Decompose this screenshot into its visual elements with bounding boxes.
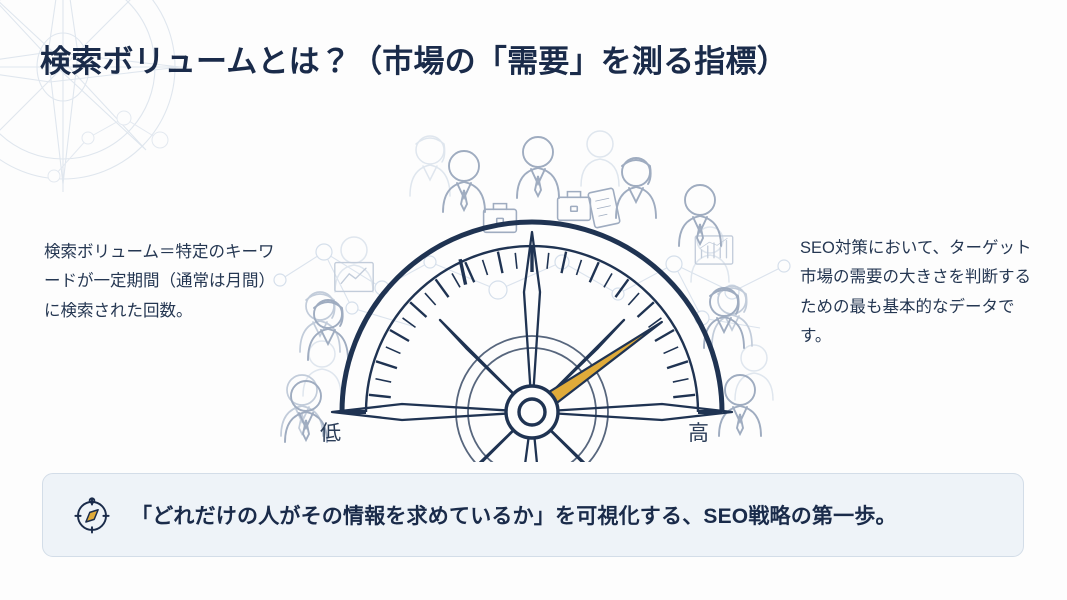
page-title: 検索ボリュームとは？（市場の「需要」を測る指標） <box>40 36 788 81</box>
volume-gauge <box>262 112 802 462</box>
gauge-label-low: 低 <box>320 417 341 447</box>
gauge-ticks <box>369 246 695 397</box>
slide-canvas: 検索ボリュームとは？（市場の「需要」を測る指標） 検索ボリューム＝特定のキーワー… <box>0 0 1067 600</box>
compass-icon <box>71 494 113 536</box>
gauge-illustration: 低 高 <box>262 112 802 462</box>
callout-message: 「どれだけの人がその情報を求めているか」を可視化する、SEO戦略の第一歩。 <box>131 500 897 530</box>
compass-rose-watermark-icon <box>0 0 188 192</box>
gauge-label-high: 高 <box>688 417 709 447</box>
left-description-text: 検索ボリューム＝特定のキーワードが一定期間（通常は月間）に検索された回数。 <box>44 238 276 326</box>
gauge-hub <box>506 386 558 438</box>
right-description-text: SEO対策において、ターゲット市場の需要の大きさを判断するための最も基本的なデー… <box>800 234 1035 351</box>
key-message-callout: 「どれだけの人がその情報を求めているか」を可視化する、SEO戦略の第一歩。 <box>42 473 1024 557</box>
